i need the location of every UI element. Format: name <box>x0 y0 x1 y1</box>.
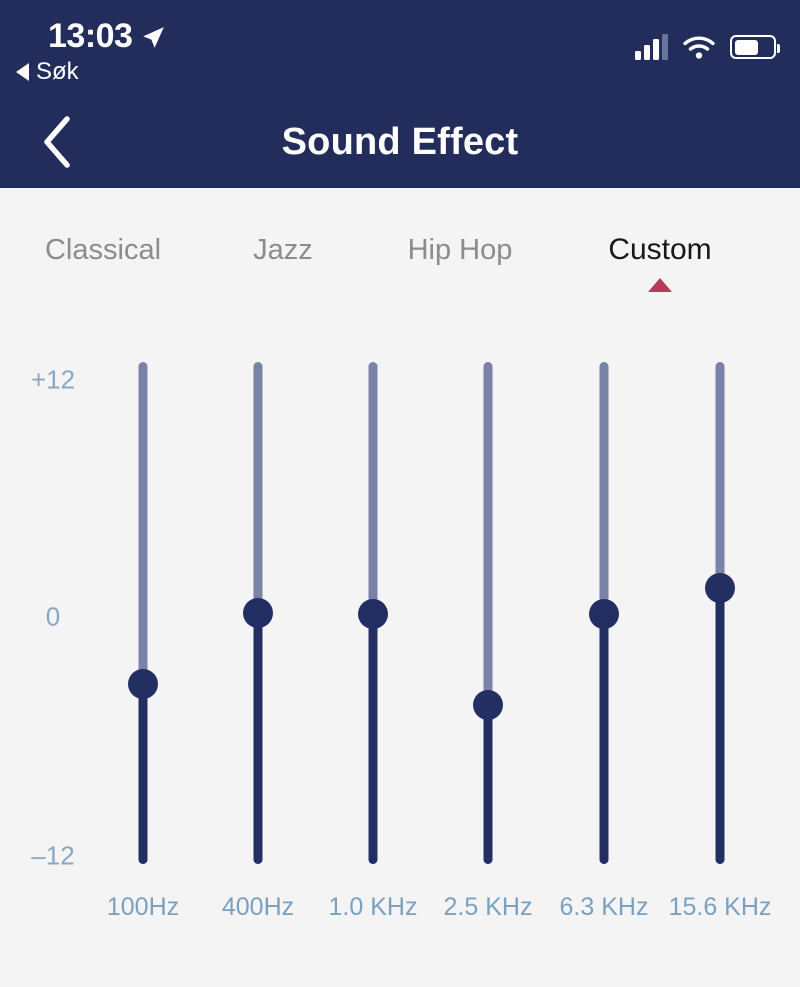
status-bar-time: 13:03 <box>48 17 132 56</box>
eq-slider-band-5[interactable] <box>574 362 634 864</box>
page-title: Sound Effect <box>0 109 800 175</box>
back-to-app-label: Søk <box>36 58 79 86</box>
eq-slider-thumb[interactable] <box>705 573 735 603</box>
eq-slider-thumb[interactable] <box>473 690 503 720</box>
back-to-app-chip[interactable]: Søk <box>16 58 79 86</box>
eq-slider-band-4[interactable] <box>458 362 518 864</box>
triangle-left-icon <box>16 63 29 81</box>
eq-frequency-label-5: 6.3 KHz <box>560 893 649 922</box>
eq-slider-thumb[interactable] <box>128 669 158 699</box>
eq-frequency-label-2: 400Hz <box>222 893 294 922</box>
eq-slider-fill <box>716 588 725 864</box>
axis-label-2: –12 <box>18 841 88 872</box>
status-bar-indicators <box>635 34 776 60</box>
eq-slider-band-2[interactable] <box>228 362 288 864</box>
eq-slider-fill <box>369 614 378 864</box>
cellular-signal-icon <box>635 34 668 60</box>
eq-frequency-label-6: 15.6 KHz <box>669 893 772 922</box>
axis-label-0: +12 <box>18 365 88 396</box>
status-bar: 13:03 Søk <box>0 0 800 95</box>
eq-slider-fill <box>254 613 263 864</box>
eq-frequency-label-4: 2.5 KHz <box>444 893 533 922</box>
nav-bar: Sound Effect <box>0 95 800 188</box>
tab-custom[interactable]: Custom <box>530 228 790 292</box>
eq-slider-thumb[interactable] <box>358 599 388 629</box>
battery-level-fill <box>735 40 759 55</box>
triangle-up-icon <box>648 278 672 292</box>
eq-slider-band-3[interactable] <box>343 362 403 864</box>
eq-slider-thumb[interactable] <box>243 598 273 628</box>
eq-slider-fill <box>484 705 493 864</box>
preset-tabs: Classical Jazz Hip Hop Custom <box>0 228 800 304</box>
tab-custom-label: Custom <box>530 228 790 272</box>
app-header: 13:03 Søk Sound <box>0 0 800 188</box>
wifi-icon <box>682 34 716 60</box>
eq-frequency-label-1: 100Hz <box>107 893 179 922</box>
battery-icon <box>730 35 776 59</box>
eq-slider-band-1[interactable] <box>113 362 173 864</box>
eq-slider-fill <box>600 614 609 864</box>
eq-slider-fill <box>139 684 148 864</box>
location-arrow-icon <box>140 25 166 51</box>
axis-label-1: 0 <box>18 602 88 633</box>
eq-frequency-label-3: 1.0 KHz <box>329 893 418 922</box>
eq-slider-band-6[interactable] <box>690 362 750 864</box>
eq-slider-thumb[interactable] <box>589 599 619 629</box>
